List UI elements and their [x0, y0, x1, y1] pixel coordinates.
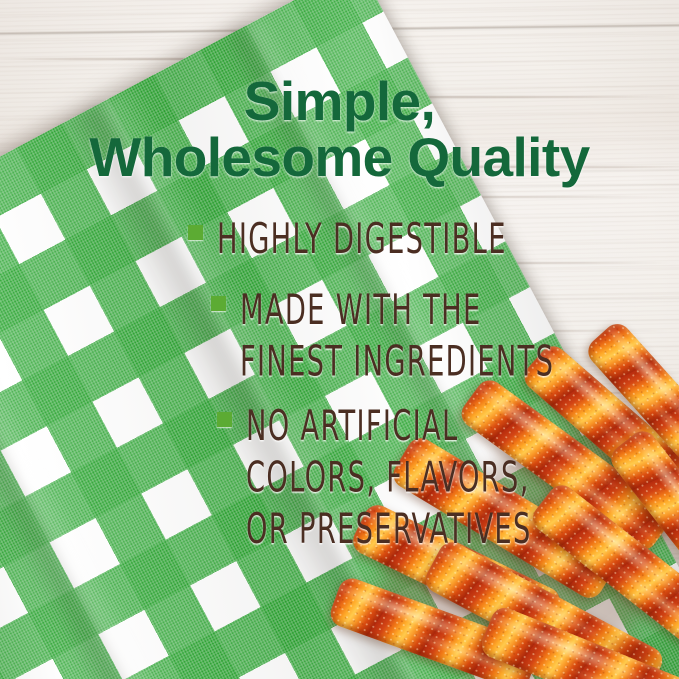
green-square-bullet-icon [211, 296, 226, 311]
headline-line-2: Wholesome Quality [0, 129, 679, 185]
list-item: Made with the finest ingredients [0, 285, 679, 377]
list-item-label: No artificial colors, flavors, or preser… [246, 401, 532, 556]
list-item: No artificial colors, flavors, or preser… [0, 401, 679, 539]
list-item-label: Made with the finest ingredients [240, 285, 554, 388]
promo-image: Simple,Wholesome Quality Highly Digestib… [0, 0, 679, 679]
page-title: Simple,Wholesome Quality [0, 73, 679, 185]
green-square-bullet-icon [217, 412, 232, 427]
headline-line-1: Simple, [244, 70, 435, 132]
list-item: Highly Digestible [0, 214, 679, 260]
green-square-bullet-icon [188, 225, 203, 240]
feature-list: Highly Digestible Made with the finest i… [0, 214, 679, 539]
list-item-label: Highly Digestible [217, 214, 507, 266]
